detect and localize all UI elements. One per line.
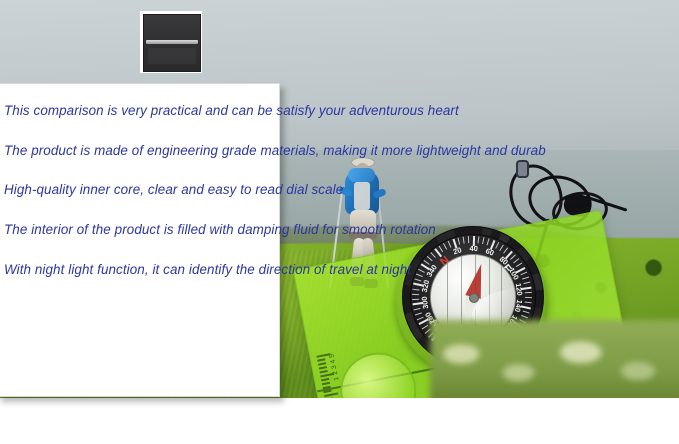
feature-text-card — [0, 83, 280, 397]
dial-tick — [438, 245, 443, 252]
dial-tick — [412, 294, 419, 296]
ruler-tick — [323, 386, 331, 389]
dial-tick — [499, 245, 504, 252]
dial-tick — [448, 241, 452, 248]
thumbnail-frame[interactable] — [140, 11, 202, 73]
foreground-grass-blur — [430, 320, 679, 398]
dial-tick — [482, 237, 485, 244]
thumbnail-lower-panel — [148, 48, 196, 64]
cord-clip-icon — [516, 160, 529, 178]
dial-tick — [415, 312, 422, 315]
dial-degree-label: 40 — [474, 244, 483, 253]
ruler-tick — [321, 378, 329, 381]
dial-tick — [521, 315, 528, 319]
dial-tick — [513, 258, 519, 263]
ruler-tick — [322, 382, 330, 385]
compass-thumbnail-dark[interactable] — [143, 14, 201, 72]
dial-degree-label: 20 — [456, 244, 467, 255]
dial-tick — [430, 252, 436, 258]
dial-tick — [495, 242, 499, 249]
dial-tick — [516, 262, 523, 267]
thumbnail-highlight-band — [146, 40, 198, 44]
hiker-backpack-strap — [354, 182, 370, 210]
ruler-tick — [319, 366, 327, 369]
dial-tick — [468, 236, 470, 243]
dial-tick — [458, 237, 461, 244]
ruler-tick — [320, 370, 328, 373]
needle-pivot — [469, 293, 479, 303]
hiker-belt — [349, 232, 377, 239]
hiker-backpack-top — [348, 168, 375, 182]
dial-tick — [477, 236, 479, 243]
dial-tick — [463, 237, 465, 244]
product-image-canvas: 1 2 3 4 5 1:50,000 (km) 1:24,000 (miles)… — [0, 0, 679, 444]
dial-tick — [525, 301, 532, 303]
dial-tick — [525, 297, 532, 299]
dial-tick — [523, 311, 530, 314]
ruler-tick — [317, 358, 325, 361]
dial-tick — [423, 260, 429, 265]
dial-tick — [523, 282, 530, 285]
ruler-tick — [323, 390, 331, 393]
dial-tick — [412, 298, 419, 300]
page-bottom-whitespace — [0, 398, 679, 444]
dial-tick — [443, 243, 448, 250]
dial-tick — [417, 316, 424, 320]
dial-tick — [522, 277, 529, 280]
dial-tick — [520, 272, 527, 276]
dial-tick — [414, 278, 421, 281]
dial-tick — [525, 292, 532, 294]
ruler-tick — [324, 392, 338, 396]
ruler-tick — [318, 362, 326, 365]
dial-tick — [487, 238, 490, 245]
